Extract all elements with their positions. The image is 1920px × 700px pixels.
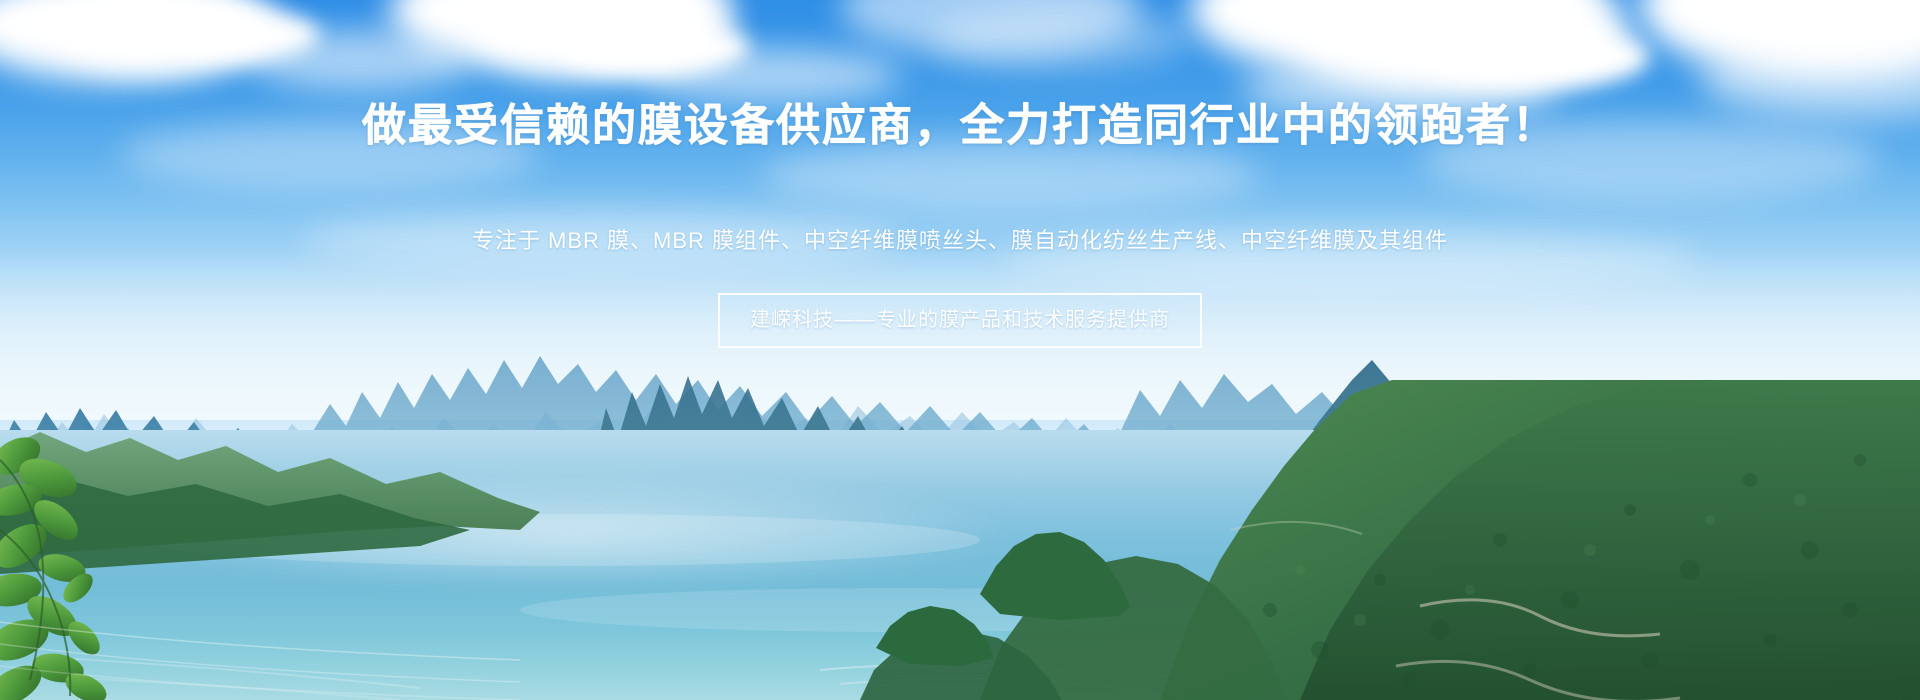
banner-tagline-box: 建嵘科技——专业的膜产品和技术服务提供商 [718,293,1202,348]
text-overlay: 做最受信赖的膜设备供应商，全力打造同行业中的领跑者！ 专注于 MBR 膜、MBR… [0,0,1920,700]
hero-banner: 做最受信赖的膜设备供应商，全力打造同行业中的领跑者！ 专注于 MBR 膜、MBR… [0,0,1920,700]
banner-headline: 做最受信赖的膜设备供应商，全力打造同行业中的领跑者！ [0,100,1920,152]
tagline-box-wrapper: 建嵘科技——专业的膜产品和技术服务提供商 [0,293,1920,348]
banner-subtitle: 专注于 MBR 膜、MBR 膜组件、中空纤维膜喷丝头、膜自动化纺丝生产线、中空纤… [0,226,1920,256]
